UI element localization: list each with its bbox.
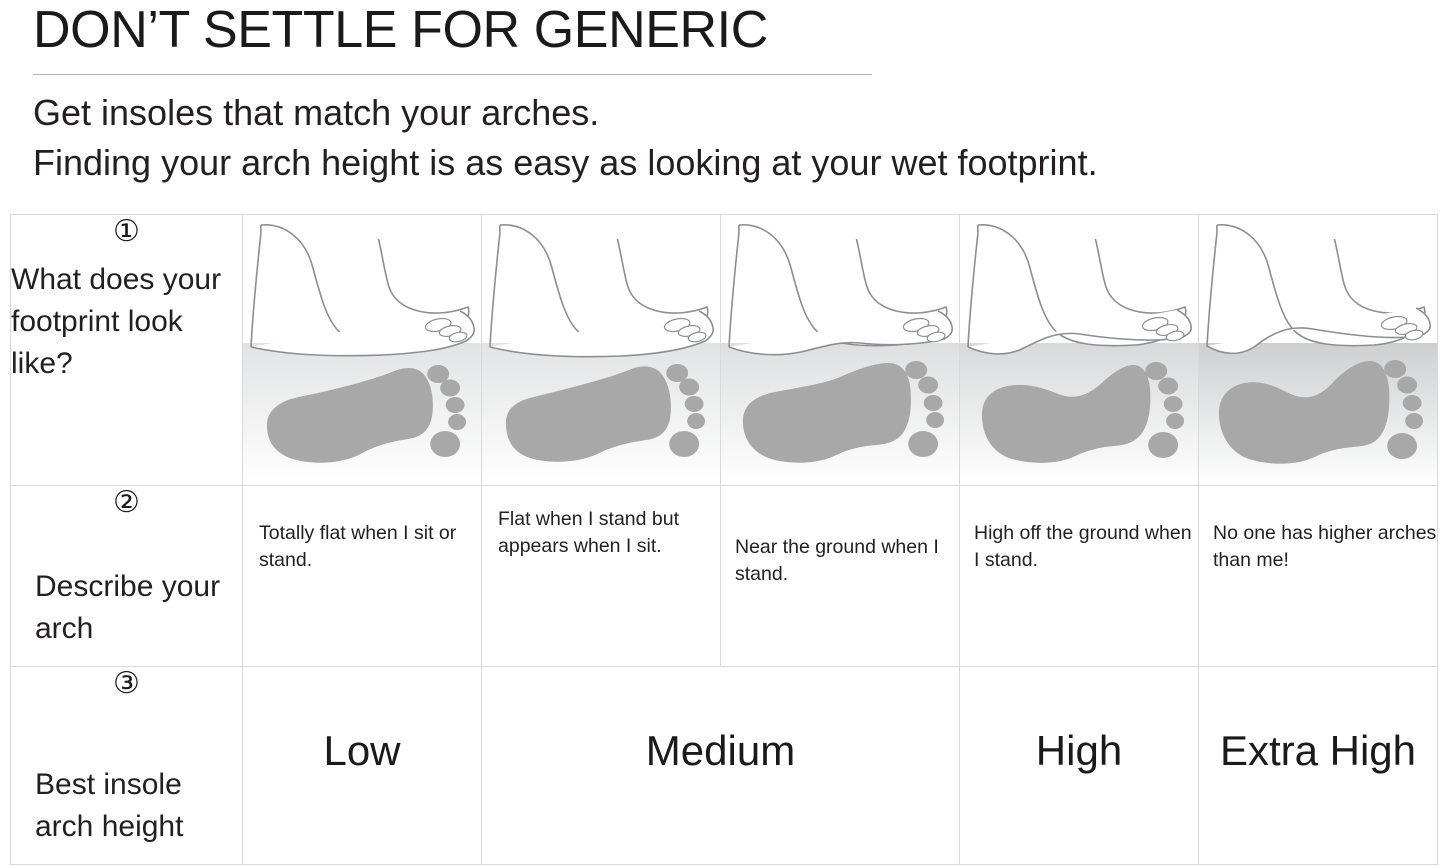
step-number-2: ② [11,486,242,520]
description-cell-1: Totally flat when I sit or stand. [243,486,482,667]
row-label-describe: ② Describe your arch [11,486,243,667]
insole-height-cell-extra-high: Extra High [1199,667,1438,865]
footprint-cell-5 [1199,215,1438,486]
title-divider [33,74,872,75]
row-label-insole: ③ Best insole arch height [11,667,243,865]
footprint-cell-4 [960,215,1199,486]
footprint-cell-2 [482,215,721,486]
row-label-text-3: Best insole arch height [35,764,228,848]
step-number-1: ① [11,215,242,249]
row-label-footprint: ① What does your footprint look like? [11,215,243,486]
table-row-insole-height: ③ Best insole arch height Low Medium Hig… [11,667,1438,865]
footprint-low-arch-icon [482,215,720,485]
insole-height-medium: Medium [482,667,959,775]
insole-height-high: High [960,667,1198,775]
footprint-cell-1 [243,215,482,486]
arch-height-guide-page: DON’T SETTLE FOR GENERIC Get insoles tha… [0,0,1445,867]
description-text-5: No one has higher arches than me! [1199,486,1437,574]
step-number-3: ③ [11,667,242,701]
description-cell-2: Flat when I stand but appears when I sit… [482,486,721,667]
description-cell-4: High off the ground when I stand. [960,486,1199,667]
footprint-flat-arch-icon [243,215,481,485]
description-cell-3: Near the ground when I stand. [721,486,960,667]
header: DON’T SETTLE FOR GENERIC Get insoles tha… [0,0,1445,187]
description-text-2: Flat when I stand but appears when I sit… [482,486,720,560]
row-label-text-1: What does your footprint look like? [11,263,221,380]
footprint-cell-3 [721,215,960,486]
footprint-medium-arch-icon [721,215,959,485]
insole-height-low: Low [243,667,481,775]
insole-height-extra-high: Extra High [1199,667,1437,775]
insole-height-cell-medium: Medium [482,667,960,865]
arch-comparison-table: ① What does your footprint look like? [10,214,1438,865]
subtitle-line-2: Finding your arch height is as easy as l… [33,139,1445,187]
description-text-4: High off the ground when I stand. [960,486,1198,574]
footprint-high-arch-icon [960,215,1198,485]
description-text-1: Totally flat when I sit or stand. [243,486,481,574]
insole-height-cell-high: High [960,667,1199,865]
table-row-descriptions: ② Describe your arch Totally flat when I… [11,486,1438,667]
description-cell-5: No one has higher arches than me! [1199,486,1438,667]
row-label-text-2: Describe your arch [35,566,228,650]
table-row-footprints: ① What does your footprint look like? [11,215,1438,486]
insole-height-cell-low: Low [243,667,482,865]
subtitle-line-1: Get insoles that match your arches. [33,89,1445,137]
page-title: DON’T SETTLE FOR GENERIC [33,0,1445,58]
description-text-3: Near the ground when I stand. [721,486,959,588]
footprint-extra-high-arch-icon [1199,215,1437,485]
